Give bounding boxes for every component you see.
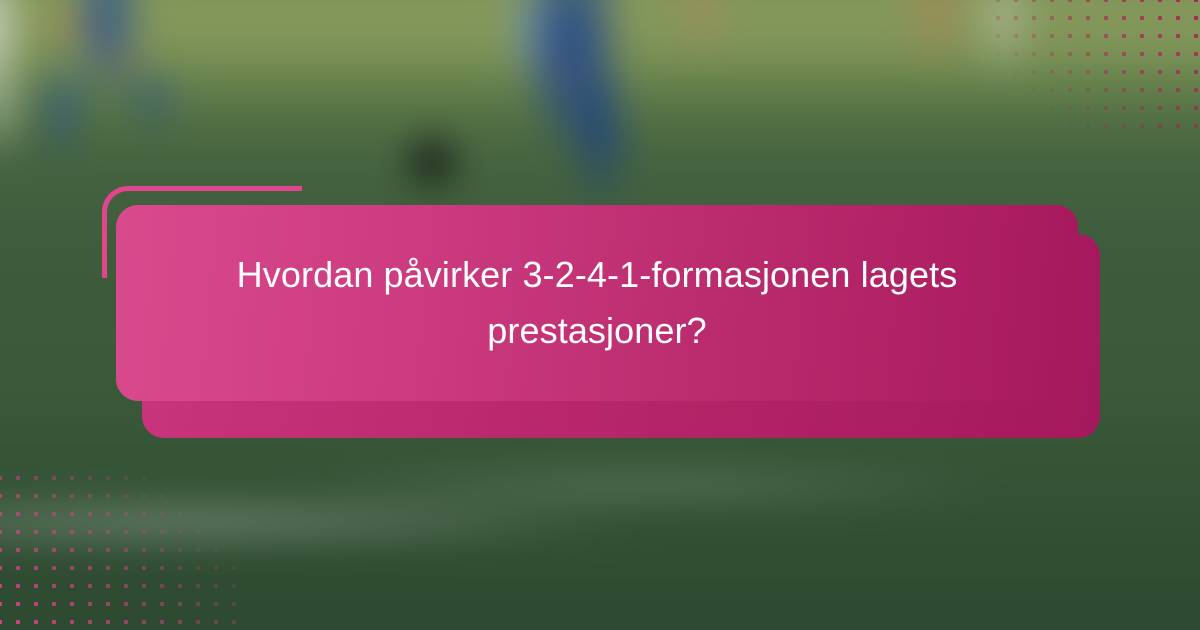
- halftone-dots-top-right: [994, 0, 1200, 136]
- headline-card: Hvordan påvirker 3-2-4-1-formasjonen lag…: [116, 205, 1078, 401]
- share-card-canvas: Hvordan påvirker 3-2-4-1-formasjonen lag…: [0, 0, 1200, 630]
- headline-text: Hvordan påvirker 3-2-4-1-formasjonen lag…: [116, 247, 1078, 359]
- halftone-dots-bottom-left: [0, 474, 236, 630]
